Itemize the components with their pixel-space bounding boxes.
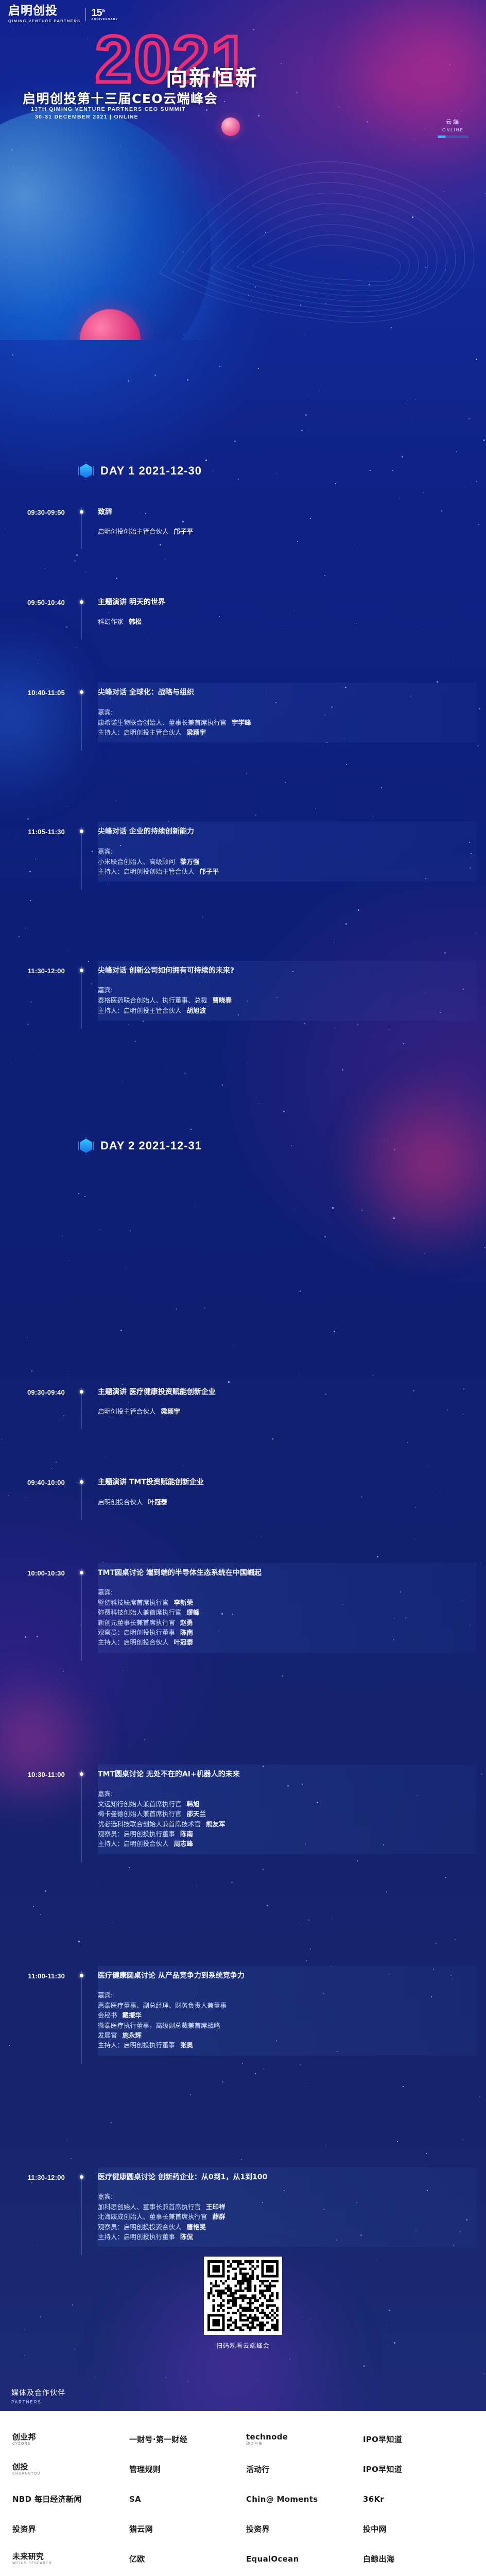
session-time: 10:30-11:00	[0, 1770, 65, 1849]
speaker-name: 韩旭	[187, 1799, 200, 1809]
partner-name: 未来研究WEIUS RESEARCH	[12, 2552, 52, 2566]
speaker-row: 发展官施永辉	[98, 2030, 475, 2040]
session-time: 11:00-11:30	[0, 1971, 65, 2050]
speaker-name: 施永辉	[123, 2030, 142, 2040]
partner-name: 管理规则	[129, 2465, 161, 2474]
guest-label: 嘉宾:	[98, 707, 475, 717]
speaker-name: 邝子平	[174, 528, 194, 535]
speaker-row: 文远知行创始人兼首席执行官韩旭	[98, 1799, 475, 1809]
anniversary-label: ANNIVERSARY	[91, 18, 118, 21]
timeline-line	[81, 1568, 82, 1661]
schedule-item[interactable]: 11:30-12:00医疗健康圆桌讨论 创新药企业：从0到1，从1到100嘉宾:…	[0, 2173, 486, 2242]
timeline-dot	[80, 1772, 83, 1776]
session-body: 尖峰对话 创新公司如何拥有可持续的未来?嘉宾:泰格医药联合创始人、执行董事、总裁…	[98, 966, 486, 1015]
speaker-row: 主持人：启明创投执行董事陈侃	[98, 2232, 475, 2242]
partner-logo: 一财号·第一财经	[126, 2425, 243, 2454]
schedule-item[interactable]: 09:30-09:50致辞启明创投创始主管合伙人邝子平	[0, 507, 486, 536]
timeline-rail	[65, 827, 98, 876]
session-title: 致辞	[98, 507, 475, 517]
speaker-role: 科幻作家	[98, 618, 124, 625]
session-time: 09:30-09:50	[0, 507, 65, 536]
speaker-role: 观察员：启明创投执行董事	[98, 1829, 175, 1839]
speaker-row: 主持人：启明创投主管合伙人胡旭波	[98, 1006, 475, 1015]
speaker-list: 康希诺生物联合创始人、董事长兼首席执行官宇学峰主持人：启明创投主管合伙人梁颖宇	[98, 718, 475, 738]
partners-grid: 创业邦CYZONE一财号·第一财经technode动点科技IPO早知道创投CHU…	[0, 2411, 486, 2574]
day-label: DAY 2 2021-12-31	[100, 1139, 202, 1153]
partners-section: 媒体及合作伙伴 PARTNERS 创业邦CYZONE一财号·第一财经techno…	[0, 2411, 486, 2576]
timeline-rail	[65, 1387, 98, 1416]
speaker-row: 观察员：启明创投执行董事陈南	[98, 1829, 475, 1839]
partner-name: IPO早知道	[363, 2435, 402, 2444]
speaker-row: 康希诺生物联合创始人、董事长兼首席执行官宇学峰	[98, 718, 475, 727]
partner-name: 36Kr	[363, 2495, 384, 2504]
partner-logo: 亿欧	[126, 2544, 243, 2574]
speaker-name: 梁颖宇	[187, 727, 206, 737]
guest-label: 嘉宾:	[98, 1587, 475, 1597]
speaker-role: 惠泰医疗董事、副总经理、财务负责人兼董事	[98, 2001, 227, 2010]
speaker-row: 主持人：启明创投合伙人叶冠泰	[98, 1637, 475, 1647]
schedule-item[interactable]: 11:00-11:30医疗健康圆桌讨论 从产品竞争力到系统竞争力嘉宾:惠泰医疗董…	[0, 1971, 486, 2050]
online-badge: 云端 ONLINE	[438, 117, 468, 138]
speaker-row: 加科思创始人、董事长兼首席执行官王印祥	[98, 2202, 475, 2212]
speaker-role: 启明创投创始主管合伙人	[98, 528, 169, 535]
speaker-role: 观察员：启明创投执行董事	[98, 1628, 175, 1637]
partner-logo: 管理规则	[126, 2454, 243, 2484]
online-badge-english: ONLINE	[438, 128, 468, 132]
timeline-line	[81, 598, 82, 639]
timeline-line	[81, 1770, 82, 1862]
session-body: 医疗健康圆桌讨论 从产品竞争力到系统竞争力嘉宾:惠泰医疗董事、副总经理、财务负责…	[98, 1971, 486, 2050]
timeline-dot	[80, 1390, 83, 1394]
hexagon-icon	[80, 464, 92, 478]
session-body: 尖峰对话 全球化：战略与组织嘉宾:康希诺生物联合创始人、董事长兼首席执行官宇学峰…	[98, 688, 486, 737]
timeline-dot	[80, 829, 83, 833]
timeline-line	[81, 1478, 82, 1519]
partner-name: EqualOcean	[246, 2555, 299, 2564]
speaker-list: 加科思创始人、董事长兼首席执行官王印祥北海康成创始人、董事长兼首席执行官薛群观察…	[98, 2202, 475, 2242]
speaker-row: 主持人：启明创投执行董事张奥	[98, 2040, 475, 2050]
session-title: 医疗健康圆桌讨论 创新药企业：从0到1，从1到100	[98, 2173, 475, 2182]
partner-name: 亿欧	[129, 2555, 145, 2564]
session-speaker-solo: 启明创投主管合伙人梁颖宇	[98, 1406, 475, 1416]
partner-name: 一财号·第一财经	[129, 2435, 187, 2444]
speaker-name: 薛群	[213, 2212, 225, 2222]
speaker-list: 惠泰医疗董事、副总经理、财务负责人兼董事会秘书戴振华微泰医疗执行董事，高级副总裁…	[98, 2001, 475, 2050]
schedule-item[interactable]: 11:30-12:00尖峰对话 创新公司如何拥有可持续的未来?嘉宾:泰格医药联合…	[0, 966, 486, 1015]
session-body: TMT圆桌讨论 无处不在的AI+机器人的未来嘉宾:文远知行创始人兼首席执行官韩旭…	[98, 1770, 486, 1849]
timeline-rail	[65, 1971, 98, 2050]
speaker-name: 黎万强	[180, 857, 200, 867]
timeline-dot	[80, 1974, 83, 1977]
speaker-list: 壁仞科技联席首席执行官李新荣弥费科技创始人兼首席执行官缪峰新创元董事长兼首席执行…	[98, 1598, 475, 1648]
partner-name: 创业邦CYZONE	[12, 2433, 36, 2446]
partner-name: SA	[129, 2495, 141, 2504]
session-title: TMT圆桌讨论 端到端的半导体生态系统在中国崛起	[98, 1568, 475, 1578]
glow-mid-right	[347, 1056, 486, 1273]
session-body: 主题演讲 TMT投资赋能创新企业启明创投合伙人叶冠泰	[98, 1478, 486, 1506]
guest-label: 嘉宾:	[98, 2191, 475, 2201]
timeline-dot	[80, 690, 83, 694]
speaker-role: 启明创投主管合伙人	[98, 1408, 156, 1415]
session-body: 致辞启明创投创始主管合伙人邝子平	[98, 507, 486, 536]
partner-logo: Chin@ Moments	[243, 2484, 360, 2514]
anniversary-badge: 15th ANNIVERSARY	[91, 8, 118, 21]
partner-subname: CHUANGTOU	[12, 2472, 40, 2476]
schedule-item[interactable]: 09:30-09:40主题演讲 医疗健康投资赋能创新企业启明创投主管合伙人梁颖宇	[0, 1387, 486, 1416]
speaker-name: 胡旭波	[187, 1006, 206, 1015]
speaker-role: 观察员：启明创投投资合伙人	[98, 2222, 182, 2232]
speaker-role: 主持人：启明创投创始主管合伙人	[98, 867, 195, 876]
timeline-rail	[65, 1478, 98, 1506]
hero-main-title: 向新恒新	[166, 61, 258, 92]
partner-subname: WEIUS RESEARCH	[12, 2562, 52, 2566]
logo-chinese-name: 启明创投	[8, 5, 80, 17]
session-speaker-solo: 启明创投创始主管合伙人邝子平	[98, 526, 475, 536]
logo-english-name: QIMING VENTURE PARTNERS	[8, 19, 80, 23]
speaker-role: 微泰医疗执行董事，高级副总裁兼首席战略	[98, 2021, 220, 2030]
timeline-line	[81, 1387, 82, 1429]
session-body: 医疗健康圆桌讨论 创新药企业：从0到1，从1到100嘉宾:加科思创始人、董事长兼…	[98, 2173, 486, 2242]
partner-name: 创投CHUANGTOU	[12, 2463, 40, 2476]
speaker-role: 梅卡曼德创始人兼首席执行官	[98, 1809, 182, 1819]
partner-logo: 投资界	[243, 2514, 360, 2544]
partner-name: 猎云网	[129, 2525, 153, 2534]
hero-banner: 启明创投 QIMING VENTURE PARTNERS 15th ANNIVE…	[0, 0, 486, 340]
speaker-name: 唐艳旻	[187, 2222, 206, 2232]
timeline-line	[81, 1971, 82, 2064]
partner-logo: IPO早知道	[360, 2454, 477, 2484]
topographic-lines-decoration	[154, 118, 486, 335]
day-header-day2: DAY 2 2021-12-31	[80, 1139, 202, 1153]
timeline-dot	[80, 969, 83, 972]
guest-label: 嘉宾:	[98, 1788, 475, 1798]
speaker-role: 文远知行创始人兼首席执行官	[98, 1799, 182, 1809]
session-time: 11:30-12:00	[0, 966, 65, 1015]
session-title: 医疗健康圆桌讨论 从产品竞争力到系统竞争力	[98, 1971, 475, 1980]
session-body: TMT圆桌讨论 端到端的半导体生态系统在中国崛起嘉宾:壁仞科技联席首席执行官李新…	[98, 1568, 486, 1648]
partner-name: NBD 每日经济新闻	[12, 2495, 82, 2504]
speaker-row: 小米联合创始人、高级顾问黎万强	[98, 857, 475, 867]
partner-logo: NBD 每日经济新闻	[9, 2484, 126, 2514]
partner-logo: 投资界	[9, 2514, 126, 2544]
speaker-name: 宇学峰	[232, 718, 251, 727]
partner-name: 白鲸出海	[363, 2555, 394, 2564]
speaker-row: 优必选科技联合创始人兼首席技术官熊友军	[98, 1819, 475, 1829]
speaker-role: 优必选科技联合创始人兼首席技术官	[98, 1819, 201, 1829]
speaker-role: 北海康成创始人、董事长兼首席执行官	[98, 2212, 207, 2222]
session-title: TMT圆桌讨论 无处不在的AI+机器人的未来	[98, 1770, 475, 1779]
speaker-name: 邝子平	[200, 867, 219, 876]
speaker-role: 发展官	[98, 2030, 117, 2040]
speaker-role: 主持人：启明创投合伙人	[98, 1839, 169, 1849]
timeline-line	[81, 966, 82, 1029]
speaker-role: 小米联合创始人、高级顾问	[98, 857, 175, 867]
speaker-list: 泰格医药联合创始人、执行董事、总裁曹晓春主持人：启明创投主管合伙人胡旭波	[98, 995, 475, 1015]
session-time: 09:50-10:40	[0, 598, 65, 626]
speaker-role: 主持人：启明创投执行董事	[98, 2232, 175, 2242]
timeline-rail	[65, 688, 98, 737]
timeline-rail	[65, 1770, 98, 1849]
speaker-role: 泰格医药联合创始人、执行董事、总裁	[98, 995, 207, 1005]
timeline-dot	[80, 510, 83, 514]
timeline-line	[81, 827, 82, 890]
online-badge-chinese: 云端	[438, 117, 468, 126]
partner-logo: 未来研究WEIUS RESEARCH	[9, 2544, 126, 2574]
timeline-dot	[80, 2175, 83, 2179]
speaker-role: 壁仞科技联席首席执行官	[98, 1598, 169, 1607]
session-speaker-solo: 科幻作家韩松	[98, 616, 475, 626]
session-body: 尖峰对话 企业的持续创新能力嘉宾:小米联合创始人、高级顾问黎万强主持人：启明创投…	[98, 827, 486, 876]
session-time: 10:00-10:30	[0, 1568, 65, 1648]
speaker-name: 陈南	[180, 1628, 193, 1637]
timeline-dot	[80, 1571, 83, 1574]
partner-subname: 动点科技	[246, 2442, 288, 2446]
speaker-role: 弥费科技创始人兼首席执行官	[98, 1607, 182, 1617]
schedule-item[interactable]: 10:30-11:00TMT圆桌讨论 无处不在的AI+机器人的未来嘉宾:文远知行…	[0, 1770, 486, 1849]
partner-name: 投资界	[246, 2525, 270, 2534]
partner-name: 活动行	[246, 2465, 270, 2474]
hero-english-line-2: 30-31 DECEMBER 2021 | ONLINE	[35, 114, 138, 120]
speaker-name: 赵勇	[180, 1618, 193, 1628]
online-badge-bar	[438, 135, 468, 138]
qr-section: 扫码观看云端峰会	[204, 2257, 282, 2350]
timeline-line	[81, 2173, 82, 2256]
partner-logo: 白鲸出海	[360, 2544, 477, 2574]
speaker-name: 韩松	[129, 618, 142, 625]
speaker-row: 微泰医疗执行董事，高级副总裁兼首席战略	[98, 2021, 475, 2030]
anniversary-suffix: th	[102, 8, 105, 13]
speaker-name: 叶冠泰	[148, 1498, 168, 1506]
partner-logo: 活动行	[243, 2454, 360, 2484]
guest-label: 嘉宾:	[98, 846, 475, 856]
partners-heading: 媒体及合作伙伴 PARTNERS	[11, 2387, 65, 2404]
speaker-row: 惠泰医疗董事、副总经理、财务负责人兼董事	[98, 2001, 475, 2010]
timeline-rail	[65, 2173, 98, 2242]
speaker-name: 熊友军	[206, 1819, 225, 1829]
speaker-name: 张奥	[180, 2040, 193, 2050]
hero-subtitle: 启明创投第十三届CEO云端峰会	[23, 89, 218, 107]
speaker-name: 缪峰	[187, 1607, 200, 1617]
speaker-list: 小米联合创始人、高级顾问黎万强主持人：启明创投创始主管合伙人邝子平	[98, 857, 475, 877]
timeline-dot	[80, 600, 83, 604]
hexagon-icon	[80, 1139, 92, 1153]
speaker-role: 新创元董事长兼首席执行官	[98, 1618, 175, 1628]
speaker-row: 会秘书戴振华	[98, 2010, 475, 2020]
timeline-line	[81, 507, 82, 549]
session-title: 主题演讲 医疗健康投资赋能创新企业	[98, 1387, 475, 1397]
speaker-name: 陈南	[180, 1829, 193, 1839]
session-title: 尖峰对话 企业的持续创新能力	[98, 827, 475, 836]
partner-subname: CYZONE	[12, 2442, 36, 2446]
speaker-row: 梅卡曼德创始人兼首席执行官邵天兰	[98, 1809, 475, 1819]
partner-logo: technode动点科技	[243, 2425, 360, 2454]
partner-logo: EqualOcean	[243, 2544, 360, 2574]
timeline-rail	[65, 966, 98, 1015]
day-header-day1: DAY 1 2021-12-30	[80, 464, 202, 478]
speaker-name: 戴振华	[123, 2010, 142, 2020]
partner-name: Chin@ Moments	[246, 2495, 318, 2504]
schedule-item[interactable]: 09:50-10:40主题演讲 明天的世界科幻作家韩松	[0, 598, 486, 626]
speaker-role: 主持人：启明创投合伙人	[98, 1637, 169, 1647]
partner-logo: 投中网	[360, 2514, 477, 2544]
anniversary-number: 15	[91, 7, 101, 19]
speaker-role: 会秘书	[98, 2010, 117, 2020]
speaker-row: 主持人：启明创投创始主管合伙人邝子平	[98, 867, 475, 876]
speaker-row: 观察员：启明创投执行董事陈南	[98, 1628, 475, 1637]
partner-logo: IPO早知道	[360, 2425, 477, 2454]
brand-logo: 启明创投 QIMING VENTURE PARTNERS 15th ANNIVE…	[8, 5, 118, 23]
speaker-name: 周志峰	[174, 1839, 194, 1849]
speaker-name: 王印祥	[206, 2202, 225, 2212]
session-title: 主题演讲 明天的世界	[98, 598, 475, 607]
speaker-role: 康希诺生物联合创始人、董事长兼首席执行官	[98, 718, 227, 727]
schedule-item[interactable]: 10:00-10:30TMT圆桌讨论 端到端的半导体生态系统在中国崛起嘉宾:壁仞…	[0, 1568, 486, 1648]
logo-divider	[85, 8, 86, 21]
partner-name: IPO早知道	[363, 2465, 402, 2474]
speaker-name: 曹晓春	[213, 995, 232, 1005]
guest-label: 嘉宾:	[98, 1990, 475, 1999]
timeline-rail	[65, 598, 98, 626]
partner-name: technode动点科技	[246, 2433, 288, 2446]
speaker-row: 主持人：启明创投合伙人周志峰	[98, 1839, 475, 1849]
speaker-row: 弥费科技创始人兼首席执行官缪峰	[98, 1607, 475, 1617]
timeline-rail	[65, 1568, 98, 1648]
session-time: 11:30-12:00	[0, 2173, 65, 2242]
session-speaker-solo: 启明创投合伙人叶冠泰	[98, 1497, 475, 1506]
session-time: 09:30-09:40	[0, 1387, 65, 1416]
session-title: 尖峰对话 全球化：战略与组织	[98, 688, 475, 697]
speaker-row: 新创元董事长兼首席执行官赵勇	[98, 1618, 475, 1628]
partner-logo: SA	[126, 2484, 243, 2514]
speaker-name: 陈侃	[180, 2232, 193, 2242]
speaker-row: 壁仞科技联席首席执行官李新荣	[98, 1598, 475, 1607]
guest-label: 嘉宾:	[98, 985, 475, 994]
speaker-role: 主持人：启明创投主管合伙人	[98, 727, 182, 737]
speaker-name: 叶冠泰	[174, 1637, 194, 1647]
qr-code[interactable]	[204, 2257, 282, 2335]
speaker-row: 北海康成创始人、董事长兼首席执行官薛群	[98, 2212, 475, 2222]
session-body: 主题演讲 明天的世界科幻作家韩松	[98, 598, 486, 626]
partners-title-cn: 媒体及合作伙伴	[11, 2387, 65, 2398]
timeline-line	[81, 688, 82, 751]
partner-logo: 创业邦CYZONE	[9, 2425, 126, 2454]
schedule-item[interactable]: 10:40-11:05尖峰对话 全球化：战略与组织嘉宾:康希诺生物联合创始人、董…	[0, 688, 486, 737]
partner-name: 投中网	[363, 2525, 387, 2534]
schedule-item[interactable]: 09:40-10:00主题演讲 TMT投资赋能创新企业启明创投合伙人叶冠泰	[0, 1478, 486, 1506]
partners-title-en: PARTNERS	[11, 2400, 65, 2404]
partner-logo: 36Kr	[360, 2484, 477, 2514]
session-time: 10:40-11:05	[0, 688, 65, 737]
partner-logo: 创投CHUANGTOU	[9, 2454, 126, 2484]
speaker-role: 启明创投合伙人	[98, 1498, 143, 1506]
session-body: 主题演讲 医疗健康投资赋能创新企业启明创投主管合伙人梁颖宇	[98, 1387, 486, 1416]
speaker-name: 李新荣	[174, 1598, 194, 1607]
speaker-row: 观察员：启明创投投资合伙人唐艳旻	[98, 2222, 475, 2232]
speaker-role: 主持人：启明创投主管合伙人	[98, 1006, 182, 1015]
session-title: 主题演讲 TMT投资赋能创新企业	[98, 1478, 475, 1487]
qr-caption: 扫码观看云端峰会	[204, 2341, 282, 2350]
speaker-row: 主持人：启明创投主管合伙人梁颖宇	[98, 727, 475, 737]
speaker-name: 梁颖宇	[161, 1408, 181, 1415]
session-time: 11:05-11:30	[0, 827, 65, 876]
timeline-dot	[80, 1480, 83, 1484]
partner-logo: 猎云网	[126, 2514, 243, 2544]
speaker-list: 文远知行创始人兼首席执行官韩旭梅卡曼德创始人兼首席执行官邵天兰优必选科技联合创始…	[98, 1799, 475, 1849]
day-label: DAY 1 2021-12-30	[100, 464, 202, 478]
schedule-item[interactable]: 11:05-11:30尖峰对话 企业的持续创新能力嘉宾:小米联合创始人、高级顾问…	[0, 827, 486, 876]
speaker-name: 邵天兰	[187, 1809, 206, 1819]
speaker-role: 加科思创始人、董事长兼首席执行官	[98, 2202, 201, 2212]
session-time: 09:40-10:00	[0, 1478, 65, 1506]
hero-english-line-1: 13TH QIMING VENTURE PARTNERS CEO SUMMIT	[31, 106, 186, 112]
speaker-row: 泰格医药联合创始人、执行董事、总裁曹晓春	[98, 995, 475, 1005]
partner-name: 投资界	[12, 2525, 36, 2534]
timeline-rail	[65, 507, 98, 536]
speaker-role: 主持人：启明创投执行董事	[98, 2040, 175, 2050]
session-title: 尖峰对话 创新公司如何拥有可持续的未来?	[98, 966, 475, 975]
